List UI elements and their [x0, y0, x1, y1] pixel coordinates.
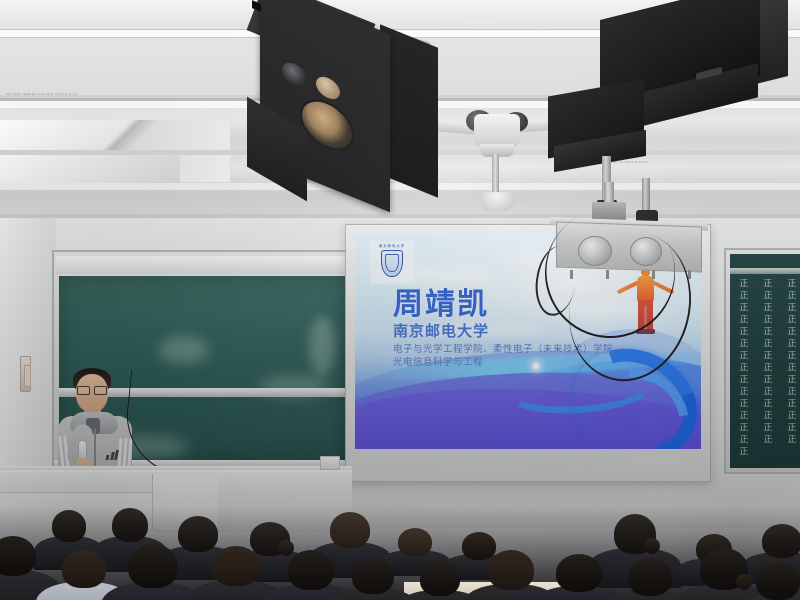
audience-head: [52, 510, 86, 542]
audience-hair-bun: [736, 574, 752, 590]
chalk-tally: 正: [780, 386, 800, 398]
audience: [0, 506, 800, 600]
chalk-tally: 正: [756, 302, 780, 314]
chalk-tally: 正: [732, 350, 756, 362]
university-logo: 南京邮电大学: [370, 242, 414, 284]
chalk-tally: 正: [780, 326, 800, 338]
audience-head: [62, 550, 106, 588]
audience-head: [178, 516, 218, 552]
chalk-tally: 正: [756, 422, 780, 434]
audience-head: [762, 524, 800, 558]
chalk-tally: 正: [780, 302, 800, 314]
chalk-tally: 正: [756, 338, 780, 350]
ceiling-label-strip-1: ZM-4000 SERIES CEILING TRACK A-12: [6, 92, 77, 96]
chalk-tally: 正: [756, 374, 780, 386]
projector-support-pole: [642, 178, 650, 212]
audience-head: [330, 512, 370, 548]
chalk-tally: 正: [732, 398, 756, 410]
chalk-tally: 正: [780, 434, 800, 446]
chalkboard-top-rail: [56, 256, 350, 274]
chalk-tally: 正: [756, 278, 780, 290]
hoodie-brand-logo: [106, 450, 119, 460]
chalk-tally: 正: [780, 314, 800, 326]
chalk-smudge: [309, 316, 335, 376]
chalk-tally: 正: [732, 290, 756, 302]
chalk-tally: 正: [780, 290, 800, 302]
chalkboard-right: 正正正正正正正正正正正正正正正正正正正正正正正正正正正正正正正正正正正正正正正正…: [724, 248, 800, 474]
chalk-tally: 正: [756, 326, 780, 338]
audience-head: [398, 528, 432, 556]
audience-head: [288, 550, 334, 590]
chalk-tally: 正: [732, 434, 756, 446]
ceiling-speaker-left: [252, 2, 452, 202]
chalk-tally: 正: [780, 278, 800, 290]
chalk-tally: 正: [732, 278, 756, 290]
chalkboard-top-rail: [730, 268, 800, 274]
audience-head: [128, 544, 178, 588]
chalk-tally: 正: [732, 362, 756, 374]
chalk-tally: 正: [756, 350, 780, 362]
ceiling-coffer: [0, 155, 180, 185]
chalk-tally: 正: [756, 410, 780, 422]
chalk-smudge: [159, 336, 209, 364]
chalk-tally: 正: [732, 314, 756, 326]
audience-head: [756, 562, 800, 600]
lecture-hall-photo: ZM-4000 SERIES CEILING TRACK A-12 PANEL …: [0, 0, 800, 600]
fan-lamp: [480, 192, 514, 212]
glasses-icon: [77, 386, 107, 393]
chalk-tally: 正: [756, 290, 780, 302]
chalk-tally: 正: [732, 410, 756, 422]
chalk-tally: 正: [756, 362, 780, 374]
audience-head: [0, 536, 36, 576]
chalk-tally: 正: [780, 338, 800, 350]
fan-motor: [474, 114, 520, 148]
chalk-tally: 正: [780, 350, 800, 362]
chalk-tally: 正: [780, 362, 800, 374]
audience-head: [556, 554, 602, 592]
chalk-tally: 正: [732, 338, 756, 350]
chalk-tally: 正: [756, 386, 780, 398]
chalk-tally: 正: [780, 398, 800, 410]
chalk-tally-marks: 正正正正正正正正正正正正正正正正正正正正正正正正正正正正正正正正正正正正正正正正…: [732, 278, 800, 464]
wall-switch-plate[interactable]: [20, 356, 31, 392]
chalk-tally: 正: [780, 422, 800, 434]
desk-item: [320, 456, 340, 470]
chalk-tally: 正: [756, 434, 780, 446]
audience-head: [462, 532, 496, 560]
university-logo-ring-text: 南京邮电大学: [372, 243, 412, 249]
chalk-tally: 正: [732, 422, 756, 434]
audience-head: [352, 558, 394, 594]
university-logo-shield: [381, 250, 403, 277]
chalk-tally: 正: [756, 398, 780, 410]
audience-hair-bun: [644, 538, 660, 554]
chalk-tally: 正: [756, 314, 780, 326]
audience-head: [212, 546, 260, 586]
audience-head: [112, 508, 148, 542]
chalk-tally: 正: [732, 386, 756, 398]
audience-head: [420, 562, 460, 596]
audience-head: [628, 558, 672, 596]
chalk-tally: 正: [780, 410, 800, 422]
chalk-tally: 正: [732, 374, 756, 386]
chalk-tally: 正: [732, 302, 756, 314]
audience-head: [488, 550, 534, 590]
chalk-tally: 正: [732, 446, 756, 458]
audience-hair-bun: [278, 540, 294, 556]
fan-downrod: [492, 154, 499, 196]
chalk-tally: 正: [732, 326, 756, 338]
chalk-tally: 正: [780, 374, 800, 386]
